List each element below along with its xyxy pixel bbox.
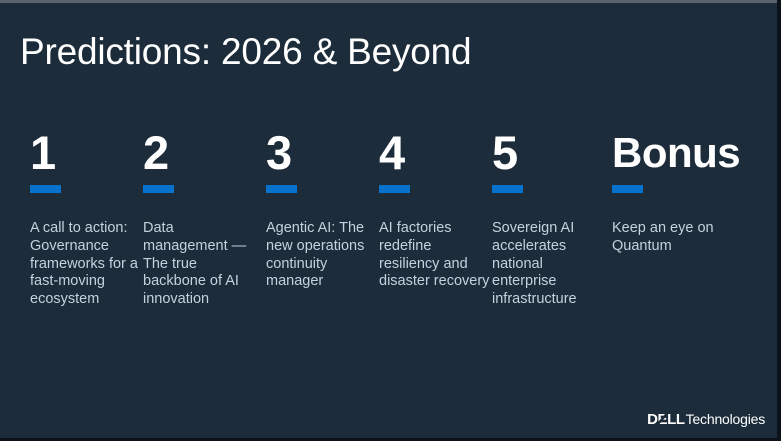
- dell-logo-suffix: Technologies: [686, 412, 765, 427]
- accent-bar-5: [492, 185, 523, 193]
- prediction-column-bonus[interactable]: Bonus Keep an eye on Quantum: [612, 128, 742, 256]
- dell-technologies-logo: D E LL Technologies: [647, 412, 765, 428]
- accent-bar-3: [266, 185, 297, 193]
- prediction-text-5: Sovereign AI accelerates national enterp…: [492, 220, 605, 309]
- accent-bar-1: [30, 185, 61, 193]
- dell-slashed-e: E: [658, 412, 668, 427]
- prediction-column-3[interactable]: 3 Agentic AI: The new operations continu…: [266, 128, 379, 291]
- dell-letters-ll: LL: [667, 412, 685, 427]
- dell-letter-d: D: [647, 412, 657, 427]
- prediction-text-3: Agentic AI: The new operations continuit…: [266, 220, 379, 291]
- prediction-number-4: 4: [379, 128, 492, 180]
- slide-right-edge: [777, 0, 781, 441]
- prediction-number-5: 5: [492, 128, 605, 180]
- prediction-column-4[interactable]: 4 AI factories redefine resiliency and d…: [379, 128, 492, 291]
- slide-top-band: [0, 0, 781, 3]
- accent-bar-4: [379, 185, 410, 193]
- prediction-number-bonus: Bonus: [612, 128, 742, 180]
- predictions-column-list: 1 A call to action: Governance framework…: [30, 128, 770, 368]
- accent-bar-bonus: [612, 185, 643, 193]
- page-title: Predictions: 2026 & Beyond: [20, 30, 471, 74]
- prediction-text-bonus: Keep an eye on Quantum: [612, 220, 742, 256]
- prediction-number-1: 1: [30, 128, 143, 180]
- prediction-text-4: AI factories redefine resiliency and dis…: [379, 220, 492, 291]
- prediction-text-1: A call to action: Governance frameworks …: [30, 220, 143, 309]
- prediction-number-3: 3: [266, 128, 379, 180]
- prediction-column-5[interactable]: 5 Sovereign AI accelerates national ente…: [492, 128, 605, 309]
- presentation-slide: Predictions: 2026 & Beyond 1 A call to a…: [0, 0, 781, 441]
- dell-wordmark: D E LL: [647, 412, 685, 427]
- prediction-column-1[interactable]: 1 A call to action: Governance framework…: [30, 128, 143, 309]
- accent-bar-2: [143, 185, 174, 193]
- dell-letter-e: E: [658, 411, 668, 428]
- prediction-text-2: Data management — The true backbone of A…: [143, 220, 256, 309]
- prediction-number-2: 2: [143, 128, 256, 180]
- prediction-column-2[interactable]: 2 Data management — The true backbone of…: [143, 128, 256, 309]
